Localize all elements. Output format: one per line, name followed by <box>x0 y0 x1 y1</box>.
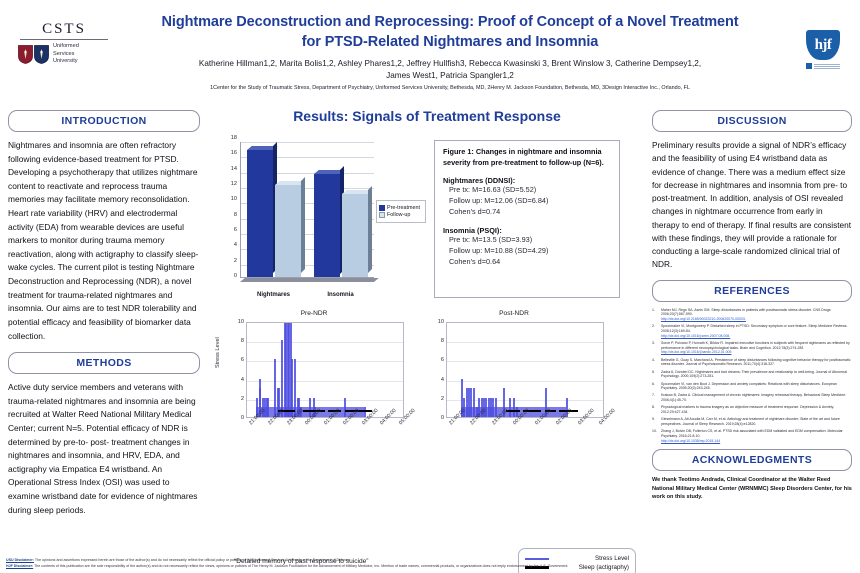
bar-chart-ytick: 2 <box>234 258 237 264</box>
section-header-discussion: DISCUSSION <box>652 110 852 132</box>
title-block: Nightmare Deconstruction and Reprocessin… <box>120 12 780 92</box>
reference-number: 3. <box>652 341 658 355</box>
discussion-text: Preliminary results provide a signal of … <box>652 139 852 272</box>
results-title: Results: Signals of Treatment Response <box>212 96 642 124</box>
usu-name: Uniformed Services University <box>53 43 79 66</box>
reference-text: Gieselmann A, Ait Aoudia M, Carr M, et a… <box>661 417 852 426</box>
reference-item: 6.Spoormaker VI, van den Bout J. Depress… <box>652 382 852 391</box>
bar-chart-ytick: 6 <box>234 227 237 233</box>
poster-columns: INTRODUCTION Nightmares and insomnia are… <box>0 96 860 551</box>
line-chart-post-yticks: 0246810 <box>424 322 446 418</box>
csts-logo: CSTS Uniformed Se <box>18 22 110 66</box>
reference-number: 5. <box>652 370 658 379</box>
line-chart-pre-ylabel: Stress Level <box>215 337 221 368</box>
line-chart-post-title: Post-NDR <box>416 310 612 317</box>
usu-disclaimer-label: USU Disclaimer: <box>6 558 34 562</box>
reference-text: Zhang J, Boivin DB, Fullerton CS, et al.… <box>661 429 852 443</box>
bar-chart-xtick: Insomnia <box>307 292 374 298</box>
hjf-disclaimer: HJF Disclaimer: The contents of this pub… <box>6 564 854 569</box>
figure-1-insomnia-cohensd: Cohen’s d=0.64 <box>449 257 611 268</box>
reference-item: 2.Spoormaker VI, Montgomery P. Disturbed… <box>652 324 852 338</box>
reference-text: Physiological markers to trauma imagery … <box>661 405 852 414</box>
reference-text: Belleville G, Guay S, Marchand A. Persis… <box>661 358 852 367</box>
bar-chart-ytick: 14 <box>231 166 237 172</box>
methods-text: Active duty service members and veterans… <box>8 381 200 517</box>
figure-1-caption: Figure 1: Changes in nightmare and insom… <box>443 147 611 168</box>
results-row-one: 024681012141618 NightmaresInsomnia Pre-t… <box>212 138 642 306</box>
reference-item: 8.Physiological markers to trauma imager… <box>652 405 852 414</box>
line-chart-ytick: 0 <box>441 415 444 421</box>
reference-text: Zadra A, Donderi DC. Nightmares and bad … <box>661 370 852 379</box>
reference-item: 4.Belleville G, Guay S, Marchand A. Pers… <box>652 358 852 367</box>
legend-label-pre: Pre-treatment <box>387 205 420 211</box>
line-chart-ytick: 4 <box>241 377 244 383</box>
bar-chart-bars <box>241 142 374 277</box>
usu-disclaimer-text: The opinions and assertions expressed he… <box>34 558 350 562</box>
poster-header: CSTS Uniformed Se <box>0 0 860 96</box>
results-row-two: Pre-NDR Stress Level 0246810 21:00:0022:… <box>212 310 642 468</box>
reference-number: 7. <box>652 393 658 402</box>
line-chart-pre-xticks: 21:00:0022:00:0023:00:0000:00:0001:00:00… <box>246 422 404 464</box>
line-chart-ytick: 8 <box>241 338 244 344</box>
hjf-textlines-icon <box>814 64 840 69</box>
bar-chart-ytick: 12 <box>231 181 237 187</box>
line-chart-post-plot <box>446 322 604 418</box>
page-title-line-2: for PTSD-Related Nightmares and Insomnia <box>120 32 780 52</box>
bar-followup <box>275 185 301 277</box>
reference-text: Sorce P, Pulvano P, Horvath K, Bildov R.… <box>661 341 852 355</box>
figure-1-insomnia-pre: Pre tx: M=13.5 (SD=3.93) <box>449 235 611 246</box>
reference-text: Maher MJ, Rego SA, Asnis GM. Sleep distu… <box>661 308 852 322</box>
bar-chart-y-axis: 024681012141618 <box>214 138 240 276</box>
figure-1-caption-box: Figure 1: Changes in nightmare and insom… <box>434 140 620 298</box>
bar-pre <box>314 174 340 278</box>
usu-line-1: Uniformed <box>53 43 79 49</box>
section-header-methods: METHODS <box>8 352 200 374</box>
reference-item: 3.Sorce P, Pulvano P, Horvath K, Bildov … <box>652 341 852 355</box>
reference-number: 9. <box>652 417 658 426</box>
line-chart-pre-yticks: 0246810 <box>224 322 246 418</box>
bar-chart-ytick: 18 <box>231 135 237 141</box>
hjf-disclaimer-label: HJF Disclaimer: <box>6 564 33 568</box>
reference-number: 2. <box>652 324 658 338</box>
legend-swatch-pre-icon <box>379 205 385 211</box>
line-chart-ytick: 8 <box>441 338 444 344</box>
reference-number: 10. <box>652 429 658 443</box>
bar-pre <box>247 150 273 277</box>
line-chart-ytick: 2 <box>241 396 244 402</box>
author-list: Katherine Hillman1,2, Marita Bolis1,2, A… <box>120 58 780 82</box>
line-chart-ytick: 6 <box>241 357 244 363</box>
bar-chart-ytick: 8 <box>234 212 237 218</box>
usu-shield-icon <box>18 45 49 64</box>
reference-text: Spoormaker VI, Montgomery P. Disturbed s… <box>661 324 852 338</box>
reference-item: 5.Zadra A, Donderi DC. Nightmares and ba… <box>652 370 852 379</box>
bar-chart-ytick: 16 <box>231 150 237 156</box>
line-chart-ytick: 4 <box>441 377 444 383</box>
reference-item: 7.Krakow B, Zadra A. Clinical management… <box>652 393 852 402</box>
bar-chart-ytick: 4 <box>234 242 237 248</box>
bar-chart-plot-area <box>240 142 374 278</box>
reference-number: 1. <box>652 308 658 322</box>
usu-line-3: University <box>53 58 78 64</box>
section-header-introduction: INTRODUCTION <box>8 110 200 132</box>
page-title: Nightmare Deconstruction and Reprocessin… <box>120 12 780 52</box>
figure-1-insomnia-heading: Insomnia (PSQI): <box>443 226 611 235</box>
line-chart-post-xticks: 21:00:0022:00:0023:00:0000:00:0001:00:00… <box>446 422 604 464</box>
reference-number: 4. <box>652 358 658 367</box>
line-chart-ytick: 10 <box>238 319 244 325</box>
bar-chart-ytick: 10 <box>231 196 237 202</box>
legend-swatch-followup-icon <box>379 212 385 218</box>
figure-1-nightmares-cohensd: Cohen’s d=0.74 <box>449 207 611 218</box>
bar-chart-figure-1: 024681012141618 NightmaresInsomnia Pre-t… <box>214 138 426 300</box>
section-header-acknowledgments: ACKNOWLEDGMENTS <box>652 449 852 471</box>
figure-1-nightmares-heading: Nightmares (DDNSI): <box>443 176 611 185</box>
line-chart-post-ndr: Post-NDR 0246810 21:00:0022:00:0023:00:0… <box>416 310 612 468</box>
reference-number: 8. <box>652 405 658 414</box>
affiliations: 1Center for the Study of Traumatic Stres… <box>120 85 780 93</box>
column-right: DISCUSSION Preliminary results provide a… <box>652 110 852 502</box>
line-chart-pre-title: Pre-NDR <box>216 310 412 317</box>
page-title-line-1: Nightmare Deconstruction and Reprocessin… <box>120 12 780 32</box>
bar-chart-xtick: Nightmares <box>240 292 307 298</box>
reference-link[interactable]: http://dx.doi.org/10.1016/j.bandc.2012.0… <box>661 350 852 355</box>
reference-link[interactable]: http://dx.doi.org/10.1016/j.smrv.2007.08… <box>661 334 852 339</box>
figure-1-insomnia-followup: Follow up: M=10.88 (SD=4.29) <box>449 246 611 257</box>
section-header-references: REFERENCES <box>652 280 852 302</box>
line-chart-ytick: 10 <box>438 319 444 325</box>
acknowledgments-text: We thank Teotimo Andrada, Clinical Coord… <box>652 476 852 501</box>
hjf-subtext <box>792 63 854 69</box>
reference-text: Krakow B, Zadra A. Clinical management o… <box>661 393 852 402</box>
line-chart-pre-plot <box>246 322 404 418</box>
bar-group <box>241 142 308 277</box>
line-chart-ytick: 2 <box>441 396 444 402</box>
figure-1-nightmares-followup: Follow up: M=12.06 (SD=6.84) <box>449 196 611 207</box>
legend-entry-follow-up: Follow-up <box>379 212 423 218</box>
bar-chart-x-labels: NightmaresInsomnia <box>240 292 374 298</box>
hjf-shield-icon: hjf <box>806 30 840 60</box>
reference-item: 9.Gieselmann A, Ait Aoudia M, Carr M, et… <box>652 417 852 426</box>
poster-footer: USU Disclaimer: The opinions and asserti… <box>6 558 854 569</box>
legend-label-followup: Follow-up <box>387 212 410 218</box>
poster-root: CSTS Uniformed Se <box>0 0 860 573</box>
reference-text: Spoormaker VI, van den Bout J. Depressio… <box>661 382 852 391</box>
reference-link[interactable]: http://dx.doi.org/10.2165/00023210-20062… <box>661 317 852 322</box>
line-chart-pre-ndr: Pre-NDR Stress Level 0246810 21:00:0022:… <box>216 310 412 468</box>
introduction-text: Nightmares and insomnia are often refrac… <box>8 139 200 343</box>
reference-number: 6. <box>652 382 658 391</box>
legend-entry-pre-treatment: Pre-treatment <box>379 205 423 211</box>
author-line-2: James West1, Patricia Spangler1,2 <box>120 70 780 82</box>
reference-item: 10.Zhang J, Boivin DB, Fullerton CS, et … <box>652 429 852 443</box>
line-chart-ytick: 6 <box>441 357 444 363</box>
column-middle: Results: Signals of Treatment Response 0… <box>212 96 642 468</box>
reference-list: 1.Maher MJ, Rego SA, Asnis GM. Sleep dis… <box>652 308 852 444</box>
bar-chart-floor <box>240 278 379 282</box>
reference-link[interactable]: http://dx.doi.org/10.1038/mp.2015.144 <box>661 439 852 444</box>
figure-1-nightmares-pre: Pre tx: M=16.63 (SD=5.52) <box>449 185 611 196</box>
column-left: INTRODUCTION Nightmares and insomnia are… <box>8 110 200 517</box>
author-line-1: Katherine Hillman1,2, Marita Bolis1,2, A… <box>120 58 780 70</box>
csts-wordmark: CSTS <box>18 22 110 37</box>
bar-chart-ytick: 0 <box>234 273 237 279</box>
bar-followup <box>342 194 368 277</box>
bar-chart-legend: Pre-treatment Follow-up <box>376 200 426 223</box>
usu-line-2: Services <box>53 51 74 57</box>
csts-divider <box>20 39 108 40</box>
line-chart-ytick: 0 <box>241 415 244 421</box>
hjf-square-icon <box>806 63 812 69</box>
reference-item: 1.Maher MJ, Rego SA, Asnis GM. Sleep dis… <box>652 308 852 322</box>
hjf-disclaimer-text: The contents of this publication are the… <box>33 564 568 568</box>
bar-group <box>308 142 375 277</box>
hjf-logo: hjf <box>792 30 854 69</box>
